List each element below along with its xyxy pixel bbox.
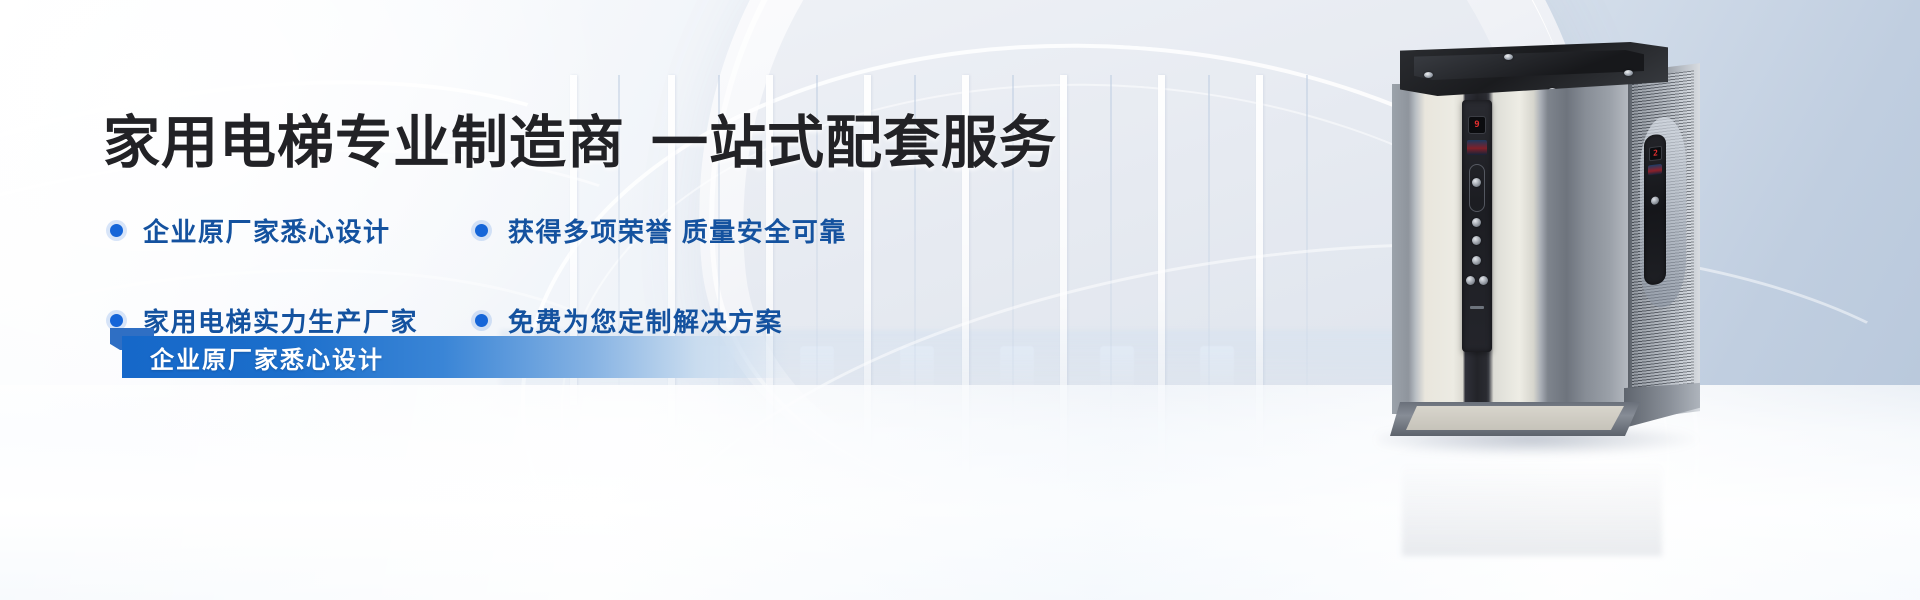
floor-indicator-display: 9 bbox=[1468, 116, 1486, 134]
bullet-dot-icon bbox=[110, 224, 123, 237]
elevator-product-image: 9 2 bbox=[1392, 42, 1692, 427]
feature-item: 企业原厂家悉心设计 bbox=[110, 212, 475, 249]
feature-item: 获得多项荣誉 质量安全可靠 bbox=[475, 212, 920, 249]
headline-part-2: 一站式配套服务 bbox=[651, 111, 1057, 175]
bullet-dot-icon bbox=[110, 314, 123, 327]
feature-label: 获得多项荣誉 质量安全可靠 bbox=[508, 212, 847, 249]
elevator-cabin-body bbox=[1392, 84, 1628, 414]
feature-list: 企业原厂家悉心设计 获得多项荣誉 质量安全可靠 家用电梯实力生产厂家 免费为您定… bbox=[110, 212, 920, 339]
canopy-bolt bbox=[1624, 70, 1633, 76]
panel-button[interactable] bbox=[1472, 178, 1481, 187]
panel-button[interactable] bbox=[1472, 256, 1481, 265]
feature-item: 家用电梯实力生产厂家 bbox=[110, 302, 475, 339]
inner-panel-button[interactable] bbox=[1651, 196, 1659, 205]
panel-button[interactable] bbox=[1479, 276, 1488, 285]
page-title: 家用电梯专业制造商一站式配套服务 bbox=[103, 112, 1057, 176]
floor-indicator-value: 9 bbox=[1474, 121, 1479, 130]
panel-lcd-screen bbox=[1467, 140, 1487, 155]
elevator-floor-sill bbox=[1406, 406, 1624, 430]
elevator-inner-control-panel: 2 bbox=[1644, 133, 1666, 286]
canopy-bolt bbox=[1424, 72, 1433, 78]
feature-item: 免费为您定制解决方案 bbox=[475, 302, 920, 339]
inner-floor-indicator-display: 2 bbox=[1649, 146, 1662, 162]
panel-button[interactable] bbox=[1472, 218, 1481, 227]
highlight-ribbon: 企业原厂家悉心设计 bbox=[110, 336, 790, 378]
panel-button[interactable] bbox=[1472, 236, 1481, 245]
panel-oval-outline bbox=[1469, 164, 1485, 212]
headline-part-1: 家用电梯专业制造商 bbox=[103, 111, 625, 175]
inner-panel-lcd bbox=[1648, 164, 1662, 176]
feature-label: 企业原厂家悉心设计 bbox=[143, 212, 391, 249]
panel-brand-tag bbox=[1470, 306, 1484, 309]
elevator-canopy-face bbox=[1414, 50, 1644, 80]
inner-floor-indicator-value: 2 bbox=[1653, 149, 1658, 158]
ribbon-label: 企业原厂家悉心设计 bbox=[150, 336, 384, 378]
feature-label: 家用电梯实力生产厂家 bbox=[143, 302, 418, 339]
bullet-dot-icon bbox=[475, 314, 488, 327]
promotional-banner: 9 2 bbox=[0, 0, 1920, 600]
canopy-bolt bbox=[1504, 54, 1513, 60]
product-reflection bbox=[1402, 436, 1662, 556]
feature-label: 免费为您定制解决方案 bbox=[508, 302, 783, 339]
bullet-dot-icon bbox=[475, 224, 488, 237]
panel-button[interactable] bbox=[1466, 276, 1475, 285]
banner-content: 家用电梯专业制造商一站式配套服务 企业原厂家悉心设计 获得多项荣誉 质量安全可靠… bbox=[0, 0, 1120, 600]
elevator-control-panel: 9 bbox=[1462, 100, 1492, 352]
